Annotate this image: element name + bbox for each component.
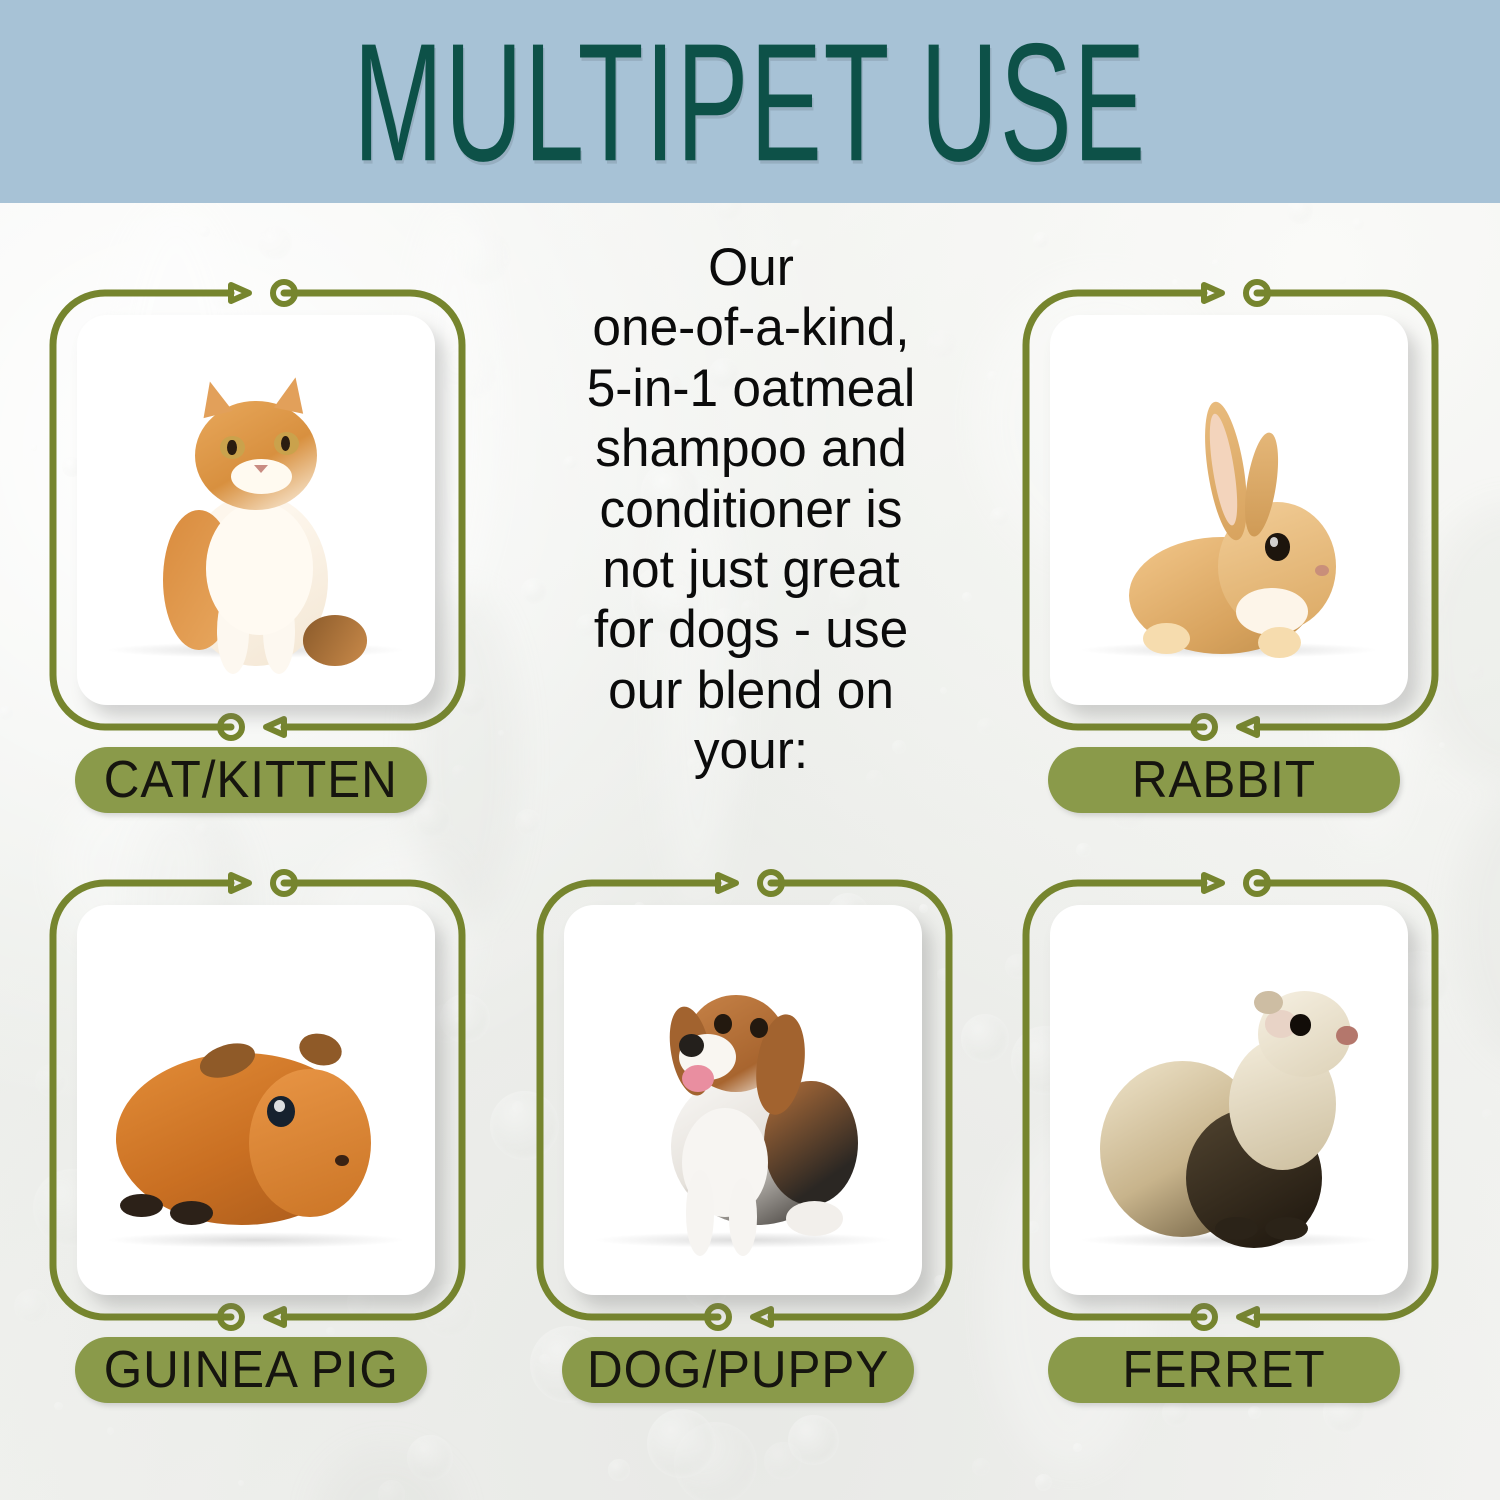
pet-label-rabbit: RABBIT <box>1048 747 1400 813</box>
blurb-line-5: conditioner is <box>523 480 979 540</box>
pet-label-cat: CAT/KITTEN <box>75 747 427 813</box>
pet-cell-dog[interactable]: DOG/PUPPY <box>532 875 957 1325</box>
header-banner: MULTIPET USE <box>0 0 1500 203</box>
blurb-line-7: for dogs - use <box>523 600 979 660</box>
blurb-line-9: your: <box>523 721 979 781</box>
pet-label-cat-text: CAT/KITTEN <box>104 750 398 810</box>
page-title: MULTIPET USE <box>353 18 1146 186</box>
blurb-line-1: Our <box>523 238 979 298</box>
pet-cell-ferret[interactable]: FERRET <box>1018 875 1443 1325</box>
blurb-line-3: 5-in-1 oatmeal <box>523 359 979 419</box>
blurb-line-8: our blend on <box>523 661 979 721</box>
pet-label-ferret-text: FERRET <box>1122 1340 1325 1400</box>
blurb-line-4: shampoo and <box>523 419 979 479</box>
pet-label-dog: DOG/PUPPY <box>562 1337 914 1403</box>
blurb-line-2: one-of-a-kind, <box>523 298 979 358</box>
infographic-page: MULTIPET USE Our one-of-a-kind, 5-in-1 o… <box>0 0 1500 1500</box>
pet-label-dog-text: DOG/PUPPY <box>587 1340 889 1400</box>
pet-cell-cat[interactable]: CAT/KITTEN <box>45 285 470 735</box>
rabbit-photo <box>1050 315 1408 705</box>
pet-label-guinea-pig-text: GUINEA PIG <box>103 1340 398 1400</box>
pet-label-rabbit-text: RABBIT <box>1132 750 1316 810</box>
guinea-pig-photo <box>77 905 435 1295</box>
pet-label-ferret: FERRET <box>1048 1337 1400 1403</box>
pet-label-guinea-pig: GUINEA PIG <box>75 1337 427 1403</box>
cat-photo <box>77 315 435 705</box>
pet-cell-guinea-pig[interactable]: GUINEA PIG <box>45 875 470 1325</box>
dog-photo <box>564 905 922 1295</box>
blurb-line-6: not just great <box>523 540 979 600</box>
pet-cell-rabbit[interactable]: RABBIT <box>1018 285 1443 735</box>
product-description: Our one-of-a-kind, 5-in-1 oatmeal shampo… <box>523 238 979 782</box>
ferret-photo <box>1050 905 1408 1295</box>
